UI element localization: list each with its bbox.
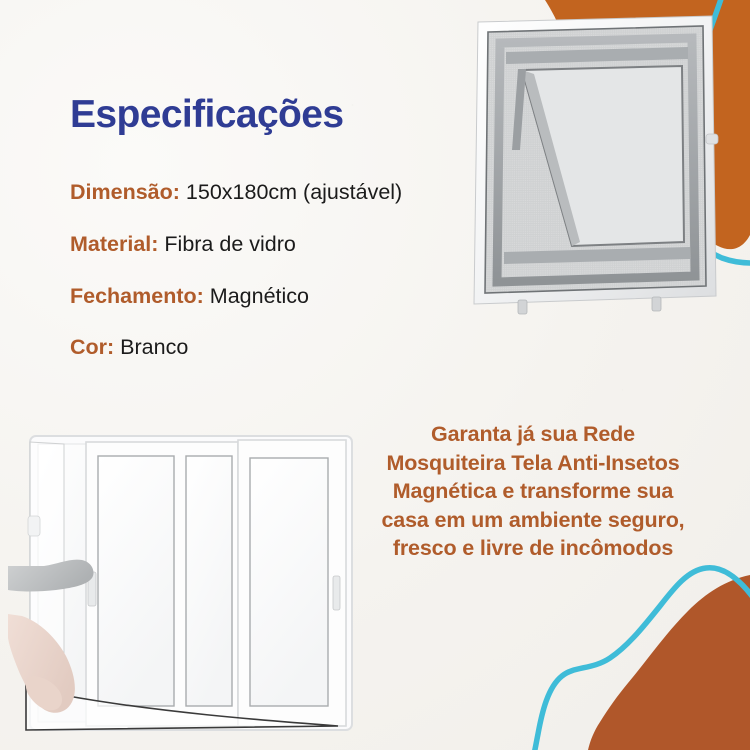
- cta-line-2: Mosquiteira Tela Anti-Insetos: [368, 449, 698, 478]
- window-hinge-nub: [706, 134, 718, 144]
- cta-line-5: fresco e livre de incômodos: [368, 534, 698, 563]
- spec-label-dimensao: Dimensão:: [70, 180, 180, 204]
- spec-label-cor: Cor:: [70, 335, 114, 359]
- page-title: Especificações: [70, 95, 500, 134]
- door-handle-right: [333, 576, 340, 610]
- upper-hand-tab: [28, 516, 40, 536]
- spec-row-material: Material: Fibra de vidro: [70, 232, 500, 258]
- spec-value-dimensao: 150x180cm (ajustável): [186, 180, 402, 204]
- spec-row-fechamento: Fechamento: Magnético: [70, 284, 500, 310]
- spec-value-fechamento: Magnético: [210, 284, 309, 308]
- door-glass-3: [250, 458, 328, 706]
- window-clip-right: [652, 297, 661, 311]
- window-clip-left: [518, 300, 527, 314]
- terracotta-blob-shape: [588, 575, 750, 750]
- specifications-block: Especificações Dimensão: 150x180cm (ajus…: [70, 95, 500, 387]
- door-glass-1: [98, 456, 174, 706]
- spec-label-fechamento: Fechamento:: [70, 284, 204, 308]
- cta-text-block: Garanta já sua Rede Mosquiteira Tela Ant…: [368, 420, 698, 563]
- spec-value-cor: Branco: [120, 335, 188, 359]
- door-glass-2: [186, 456, 232, 706]
- cta-line-3: Magnética e transforme sua: [368, 477, 698, 506]
- spec-value-material: Fibra de vidro: [164, 232, 295, 256]
- cta-line-4: casa em um ambiente seguro,: [368, 506, 698, 535]
- spec-row-cor: Cor: Branco: [70, 335, 500, 361]
- poster-canvas: Especificações Dimensão: 150x180cm (ajus…: [0, 0, 750, 750]
- cta-line-1: Garanta já sua Rede: [368, 420, 698, 449]
- sliding-door-photo: [8, 424, 380, 750]
- spec-row-dimensao: Dimensão: 150x180cm (ajustável): [70, 180, 500, 206]
- spec-label-material: Material:: [70, 232, 158, 256]
